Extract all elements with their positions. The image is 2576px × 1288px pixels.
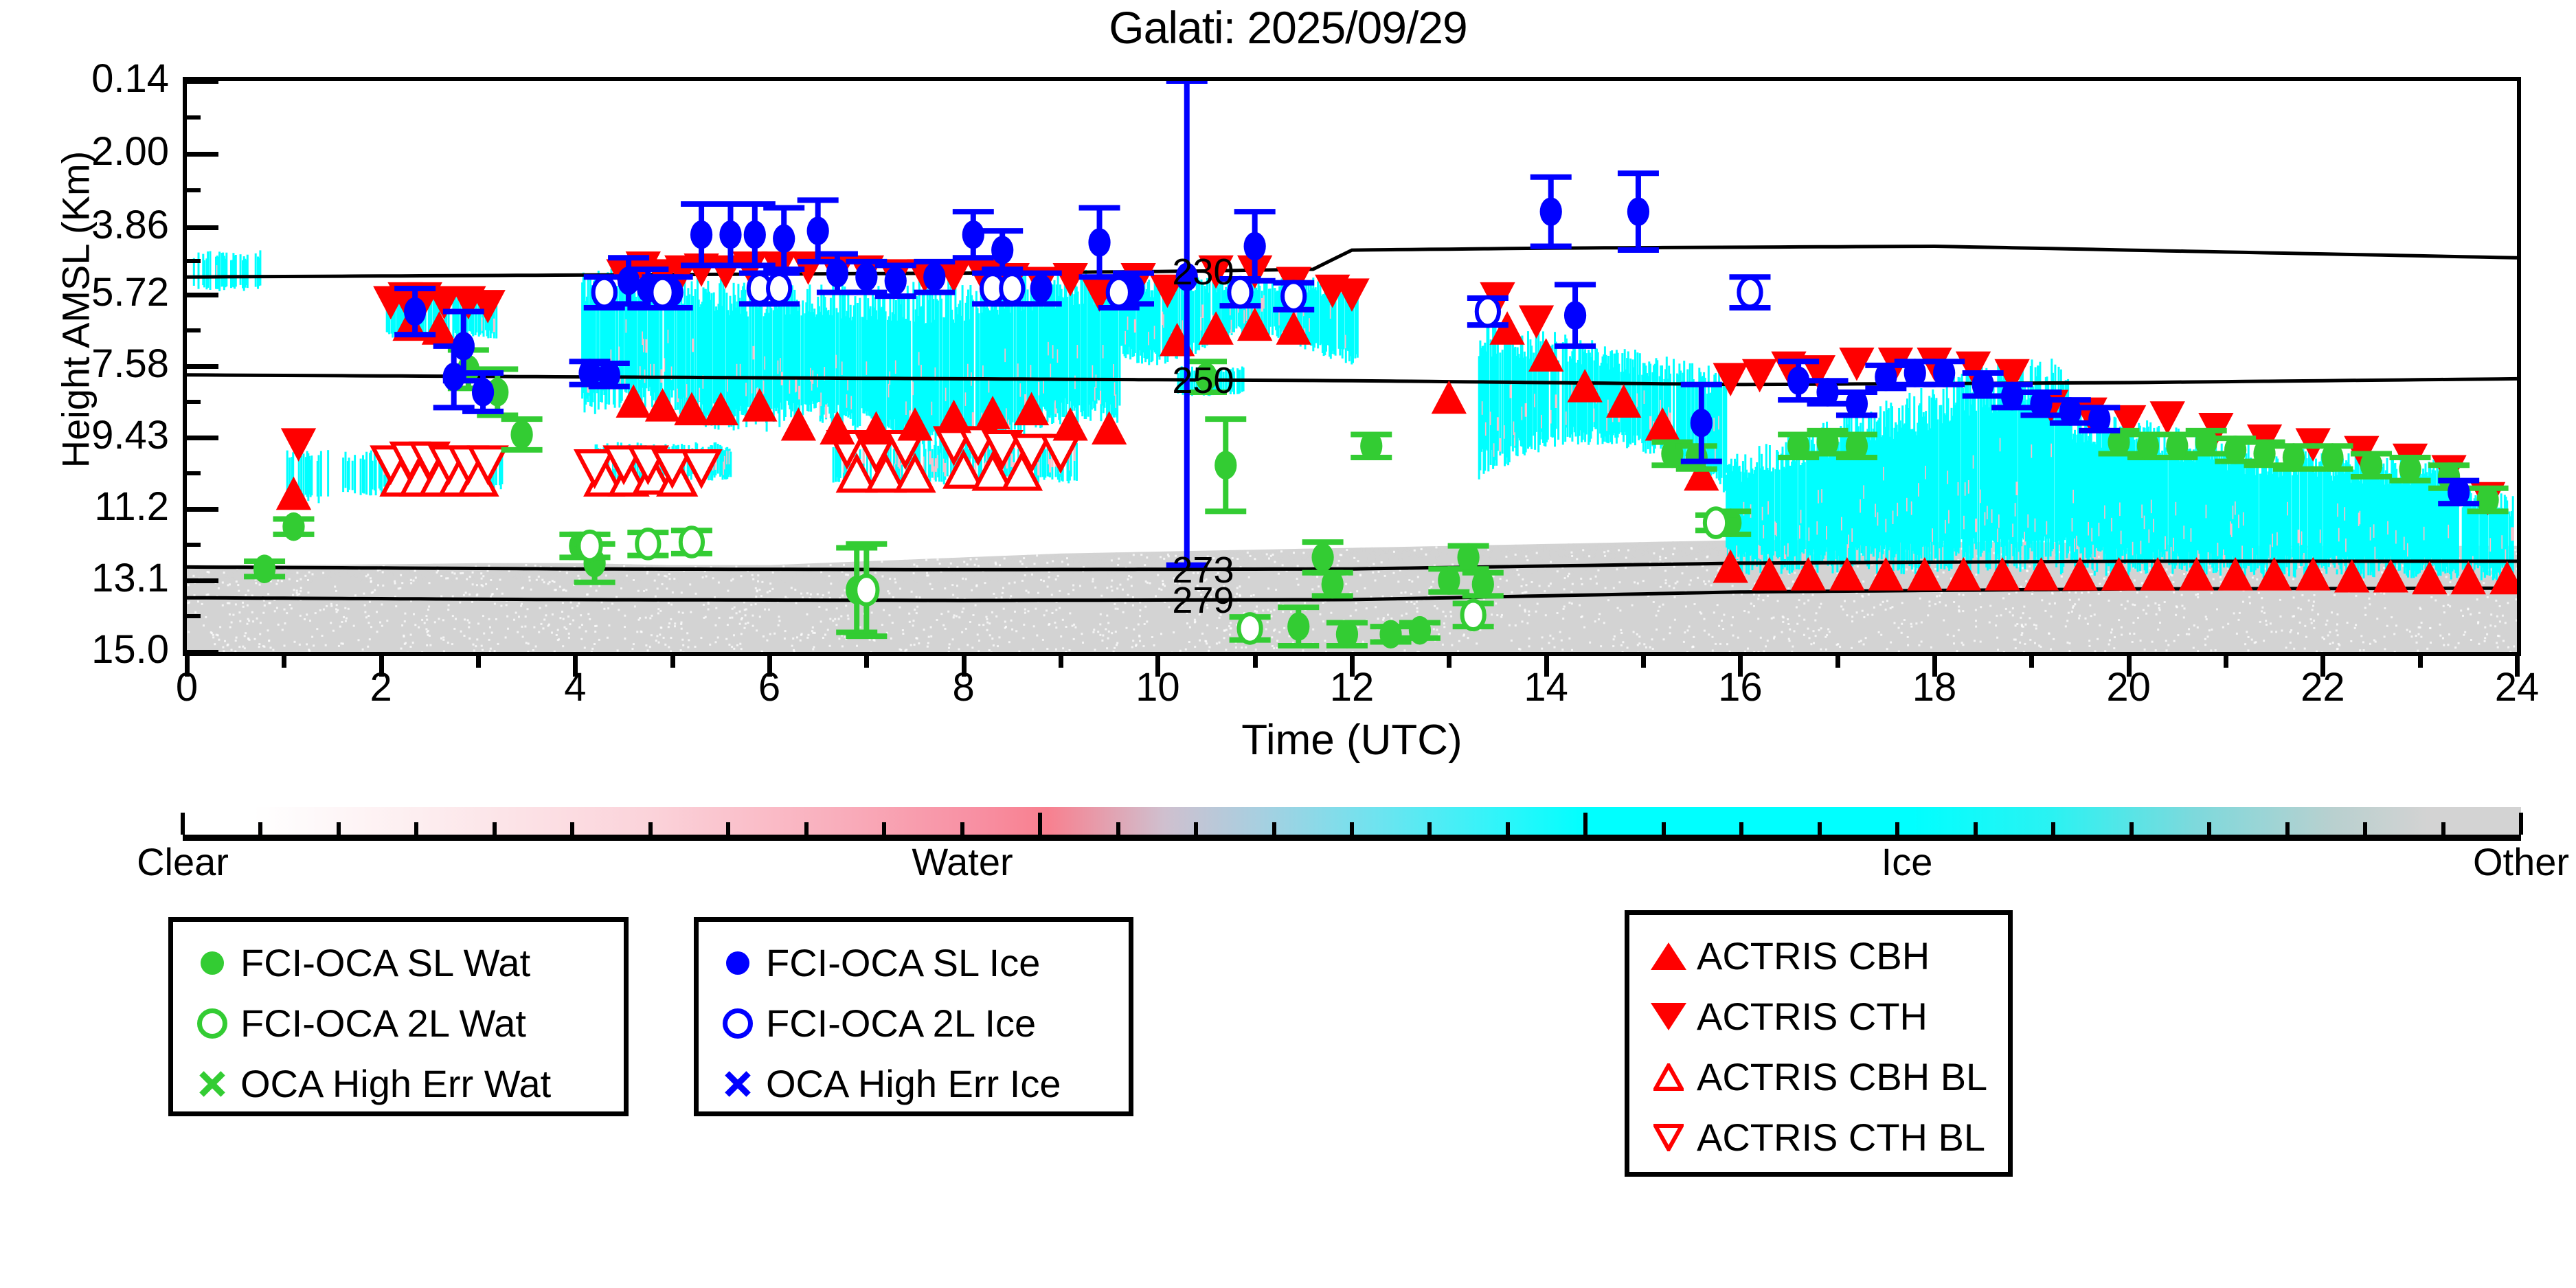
colorbar-tick [1895,822,1899,835]
colorbar-label-ice: Ice [1797,843,2017,881]
y-tick-mark [183,650,218,655]
y-tick-mark [183,436,218,440]
y-tick-mark-minor [183,115,201,120]
legend-item-filled-triangle-up[interactable]: ACTRIS CBH [1645,926,1990,986]
y-tick-label: 11.2 [0,487,169,527]
legend-item-open-triangle-down[interactable]: ACTRIS CTH BL [1645,1107,1990,1168]
y-tick-mark [183,293,218,297]
colorbar-tick [2363,822,2367,835]
x-tick-label: 14 [1478,668,1615,708]
legend-label: ACTRIS CBH BL [1697,1058,1987,1096]
y-tick-mark [183,578,218,583]
legend-symbol [714,999,762,1048]
x-tick-label: 18 [1866,668,2003,708]
y-tick-mark-minor [183,471,201,475]
x-axis-label: Time (UTC) [183,716,2521,765]
x-tick-mark-minor [1835,656,1840,668]
colorbar-label-water: Water [852,843,1072,881]
isotherm-label: 279 [1172,582,1234,619]
colorbar-tick [181,813,185,835]
filled-circle-icon [201,951,224,975]
legend-item-open-triangle-up[interactable]: ACTRIS CBH BL [1645,1047,1990,1107]
legend-item-open-circle[interactable]: FCI-OCA 2L Ice [714,993,1111,1054]
legend-label: OCA High Err Ice [766,1065,1061,1103]
colorbar-tick [258,822,262,835]
colorbar-tick [1350,822,1354,835]
colorbar-tick [1974,822,1978,835]
open-circle-icon [197,1008,227,1039]
legend-label: FCI-OCA SL Wat [240,944,530,982]
colorbar-tick [1506,822,1510,835]
legend-item-filled-circle[interactable]: FCI-OCA SL Ice [714,933,1111,993]
colorbar-tick [570,822,574,835]
x-tick-mark-minor [476,656,481,668]
legend-symbol [714,1060,762,1108]
legend-item-filled-circle[interactable]: FCI-OCA SL Wat [188,933,606,993]
legend-label: OCA High Err Wat [240,1065,551,1103]
colorbar-axis-line [183,835,2521,841]
x-tick-mark-minor [2418,656,2423,668]
x-tick-label: 4 [506,668,644,708]
colorbar-tick [1116,822,1120,835]
x-tick-label: 8 [895,668,1032,708]
colorbar-tick [882,822,886,835]
x-tick-label: 10 [1089,668,1226,708]
y-tick-mark [183,364,218,369]
legend-symbol [188,1060,236,1108]
x-tick-mark-minor [1059,656,1063,668]
x-tick-label: 22 [2254,668,2391,708]
colorbar-label-clear: Clear [73,843,293,881]
open-circle-icon [723,1008,753,1039]
x-tick-mark-minor [2029,656,2034,668]
legend-symbol [714,939,762,987]
x-tick-mark-minor [864,656,869,668]
x-tick-mark-minor [1641,656,1646,668]
isotherm-label: 250 [1172,362,1234,399]
colorbar-tick [1038,813,1042,835]
page-title: Galati: 2025/09/29 [0,1,2576,54]
y-tick-mark-minor [183,543,201,547]
colorbar-tick [2129,822,2134,835]
legend-label: ACTRIS CTH [1697,997,1928,1036]
legend-label: ACTRIS CTH BL [1697,1118,1985,1157]
x-tick-mark-minor [282,656,286,668]
y-tick-mark [183,79,218,84]
legend-label: FCI-OCA 2L Wat [240,1004,526,1043]
x-tick-label: 24 [2448,668,2576,708]
x-tick-mark-minor [1447,656,1451,668]
x-tick-label: 0 [118,668,256,708]
y-tick-mark-minor [183,259,201,263]
x-tick-label: 12 [1283,668,1421,708]
legend-label: FCI-OCA SL Ice [766,944,1040,982]
colorbar-tick [1427,822,1432,835]
y-tick-mark-minor [183,400,201,404]
y-tick-label: 7.58 [0,344,169,384]
colorbar-tick [2051,822,2055,835]
y-tick-label: 15.0 [0,630,169,670]
colorbar-tick [2441,822,2445,835]
colorbar-tick [2207,822,2211,835]
legend-symbol [188,939,236,987]
x-tick-label: 20 [2060,668,2197,708]
legend-actris[interactable]: ACTRIS CBHACTRIS CTH ACTRIS CBH BL ACTRI… [1625,910,2013,1177]
triangle-up-outline-icon [1653,1063,1684,1091]
x-tick-label: 16 [1671,668,1809,708]
legend-symbol [1645,1114,1693,1162]
plot-area[interactable]: 230250273279 [183,77,2521,656]
x-tick-label: 2 [313,668,450,708]
plot-canvas [187,81,2517,652]
legend-ice[interactable]: FCI-OCA SL IceFCI-OCA 2L IceOCA High Err… [694,917,1133,1116]
legend-item-cross[interactable]: OCA High Err Ice [714,1054,1111,1114]
x-tick-mark-minor [2224,656,2228,668]
cross-icon [723,1069,753,1099]
colorbar-tick [1583,813,1588,835]
y-tick-mark-minor [183,328,201,332]
legend-label: ACTRIS CBH [1697,937,1930,975]
triangle-up-icon [1651,942,1686,970]
legend-symbol [1645,1053,1693,1101]
colorbar-tick [648,822,653,835]
triangle-down-icon [1651,1003,1686,1030]
colorbar-label-other: Other [2411,843,2576,881]
isotherm-label: 230 [1172,253,1234,291]
legend-item-filled-triangle-down[interactable]: ACTRIS CTH [1645,986,1990,1047]
x-tick-label: 6 [701,668,838,708]
y-tick-label: 13.1 [0,558,169,598]
colorbar-tick [804,822,809,835]
colorbar-tick [493,822,497,835]
colorbar-tick [2285,822,2290,835]
y-tick-label: 5.72 [0,273,169,313]
x-tick-mark-minor [670,656,675,668]
y-tick-mark [183,507,218,512]
colorbar-tick [2519,813,2523,835]
triangle-down-outline-icon [1653,1124,1684,1151]
legend-water[interactable]: FCI-OCA SL WatFCI-OCA 2L WatOCA High Err… [168,917,629,1116]
y-tick-mark-minor [183,188,201,192]
x-tick-mark-minor [1253,656,1258,668]
y-tick-mark [183,152,218,157]
legend-item-open-circle[interactable]: FCI-OCA 2L Wat [188,993,606,1054]
colorbar-tick [1818,822,1822,835]
legend-symbol [1645,993,1693,1041]
y-tick-label: 2.00 [0,132,169,172]
y-tick-mark [183,225,218,230]
y-tick-mark-minor [183,614,201,618]
legend-item-cross[interactable]: OCA High Err Wat [188,1054,606,1114]
colorbar[interactable]: Clear Water Ice Other [183,807,2521,840]
colorbar-tick [1194,822,1198,835]
colorbar-tick [960,822,964,835]
colorbar-tick [1739,822,1743,835]
colorbar-tick [1662,822,1666,835]
y-tick-label: 3.86 [0,205,169,245]
legend-symbol [188,999,236,1048]
colorbar-tick [1272,822,1276,835]
y-tick-label: 9.43 [0,416,169,455]
colorbar-tick [726,822,730,835]
colorbar-tick [414,822,418,835]
legend-label: FCI-OCA 2L Ice [766,1004,1036,1043]
colorbar-tick [337,822,341,835]
y-tick-label: 0.14 [0,59,169,99]
legend-symbol [1645,932,1693,980]
filled-circle-icon [726,951,749,975]
cross-icon [197,1069,227,1099]
